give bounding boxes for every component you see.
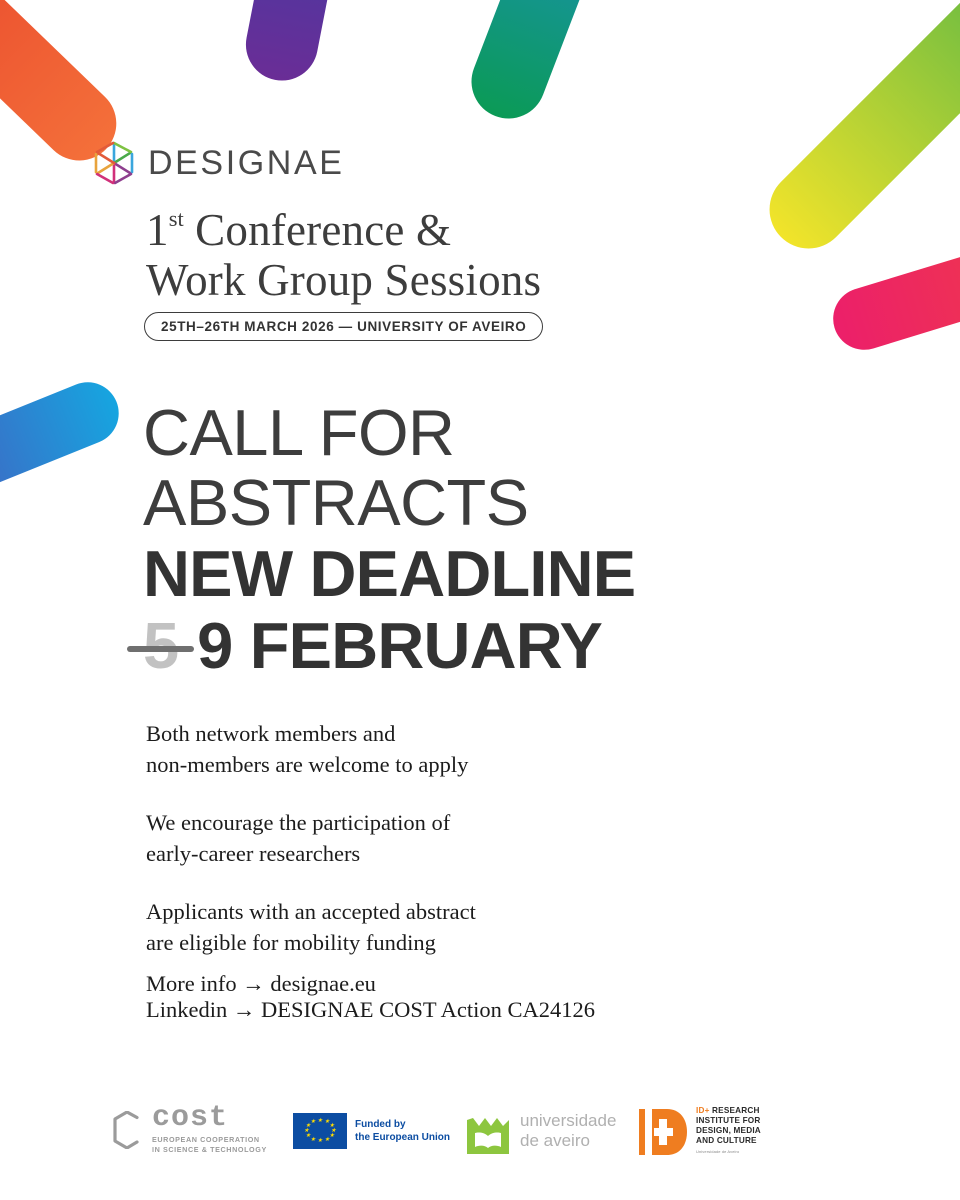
id-plus-prefix: ID+ — [696, 1106, 710, 1115]
eu-flag-icon: ★ ★ ★ ★ ★ ★ ★ ★ ★ ★ ★ ★ — [293, 1113, 347, 1149]
cost-tagline: EUROPEAN COOPERATION IN SCIENCE & TECHNO… — [152, 1135, 267, 1154]
id-plus-fine-print: Universidade de Aveiro — [696, 1147, 761, 1157]
aveiro-wordmark: universidade de aveiro — [520, 1111, 616, 1151]
headline-abstracts: ABSTRACTS — [143, 468, 635, 538]
body-paragraph: We encourage the participation ofearly-c… — [146, 807, 476, 869]
poster-canvas: DESIGNAE 1st Conference & Work Group Ses… — [0, 0, 960, 1200]
designae-wordmark: DESIGNAE — [148, 144, 345, 183]
body-paragraph: Both network members andnon-members are … — [146, 718, 476, 780]
cost-wordmark: cost — [152, 1105, 267, 1131]
id-plus-text: ID+ RESEARCH INSTITUTE FOR DESIGN, MEDIA… — [696, 1106, 761, 1157]
universidade-aveiro-logo: universidade de aveiro — [465, 1106, 616, 1156]
links-block: More info → designae.eu Linkedin → DESIG… — [146, 971, 595, 1023]
eu-funding-logo: ★ ★ ★ ★ ★ ★ ★ ★ ★ ★ ★ ★ Funded by the Eu… — [293, 1113, 450, 1149]
decor-stroke-blue-violet — [0, 373, 128, 539]
headline-call-for: CALL FOR — [143, 398, 635, 468]
headline-new-deadline: NEW DEADLINE — [143, 538, 635, 610]
footer-logo-row: cost EUROPEAN COOPERATION IN SCIENCE & T… — [0, 1098, 960, 1168]
body-paragraphs: Both network members andnon-members are … — [146, 718, 476, 985]
conference-title: 1st Conference & Work Group Sessions — [146, 194, 541, 305]
id-plus-logo: ID+ RESEARCH INSTITUTE FOR DESIGN, MEDIA… — [637, 1106, 761, 1157]
brand-lockup: DESIGNAE — [90, 139, 345, 187]
cost-text: cost EUROPEAN COOPERATION IN SCIENCE & T… — [152, 1105, 267, 1154]
conference-title-line-2: Work Group Sessions — [146, 255, 541, 305]
strikethrough-line — [127, 646, 194, 652]
cost-logo: cost EUROPEAN COOPERATION IN SCIENCE & T… — [110, 1105, 267, 1154]
conference-title-line-1: 1st Conference & — [146, 194, 541, 255]
decor-stroke-purple — [240, 0, 355, 87]
more-info-link[interactable]: More info → designae.eu — [146, 971, 595, 997]
headline-block: CALL FOR ABSTRACTS NEW DEADLINE 5 9 FEBR… — [143, 398, 635, 682]
decor-stroke-pink — [825, 210, 960, 357]
aveiro-book-icon — [465, 1106, 511, 1156]
body-paragraph: Applicants with an accepted abstractare … — [146, 896, 476, 958]
designae-hexagon-icon — [90, 139, 138, 187]
linkedin-link[interactable]: Linkedin → DESIGNAE COST Action CA24126 — [146, 997, 595, 1023]
decor-stroke-teal — [461, 0, 638, 129]
ordinal-suffix: st — [169, 206, 184, 231]
eu-funding-text: Funded by the European Union — [355, 1118, 450, 1144]
cost-hexagon-icon — [110, 1111, 144, 1149]
decor-stroke-lime — [753, 0, 960, 265]
deadline-date-row: 5 9 FEBRUARY — [143, 610, 635, 682]
new-deadline-date: 9 FEBRUARY — [197, 610, 602, 682]
old-deadline-day: 5 — [143, 610, 179, 682]
date-venue-badge: 25TH–26TH MARCH 2026 — UNIVERSITY OF AVE… — [144, 312, 543, 341]
id-plus-mark-icon — [637, 1107, 689, 1157]
